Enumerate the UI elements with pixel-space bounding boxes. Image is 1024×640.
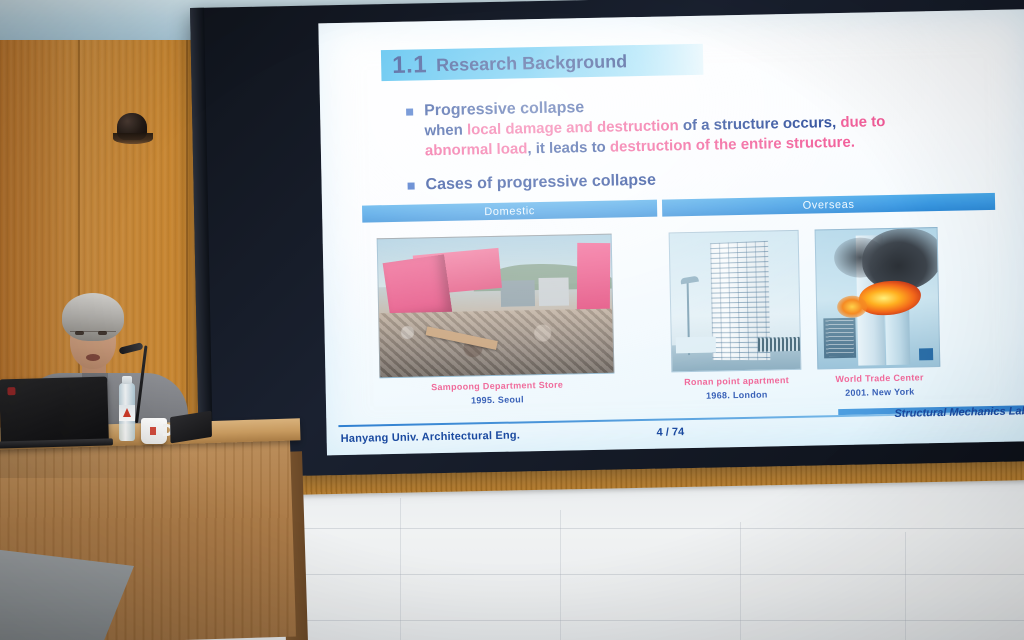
projected-slide: 1.1 Research Background Progressive coll… xyxy=(318,9,1024,455)
bullet-progressive-collapse: Progressive collapse when local damage a… xyxy=(406,90,1007,161)
caption-world-trade-center: World Trade Center 2001. New York xyxy=(813,371,946,402)
text-segment-highlight: local damage and destruction xyxy=(467,118,679,139)
text-segment: when xyxy=(424,122,467,140)
footer-page-number: 4 / 74 xyxy=(656,426,684,439)
text-segment: , it leads to xyxy=(527,138,610,157)
category-bars: Domestic Overseas xyxy=(362,193,995,223)
case-photos: Sampoong Department Store 1995. Seoul Ro… xyxy=(363,218,1000,421)
footer-lab-name: Structural Mechanics Lab xyxy=(894,405,1024,420)
photo-world-trade-center xyxy=(815,227,941,369)
water-bottle xyxy=(119,383,135,441)
text-segment: of a structure occurs, xyxy=(679,114,841,134)
square-bullet-icon xyxy=(408,183,415,190)
coffee-mug xyxy=(141,418,167,444)
category-bar-overseas: Overseas xyxy=(662,193,995,217)
photo-sampoong-department-store xyxy=(377,234,615,379)
lecture-hall-scene: 1.1 Research Background Progressive coll… xyxy=(0,0,1024,640)
bullet-heading: Cases of progressive collapse xyxy=(425,171,656,196)
projection-screen: 1.1 Research Background Progressive coll… xyxy=(190,0,1024,478)
wall-light-fixture-icon xyxy=(113,113,153,147)
caption-ronan-point: Ronan point apartment 1968. London xyxy=(657,374,816,405)
laptop xyxy=(0,377,109,444)
slide-title-number: 1.1 xyxy=(392,53,427,78)
photo-ronan-point-apartment xyxy=(669,230,802,373)
text-segment-highlight: due to xyxy=(840,114,885,132)
square-bullet-icon xyxy=(406,109,413,116)
bullet-cases-of-progressive-collapse: Cases of progressive collapse xyxy=(407,171,656,196)
text-segment-highlight: destruction of the entire structure. xyxy=(610,133,855,155)
caption-year-place: 2001. New York xyxy=(814,385,946,402)
category-bar-domestic: Domestic xyxy=(362,200,657,223)
footer-institution: Hanyang Univ. Architectural Eng. xyxy=(341,429,521,445)
caption-sampoong: Sampoong Department Store 1995. Seoul xyxy=(380,378,616,411)
slide-title-text: Research Background xyxy=(436,52,627,74)
caption-year-place: 1968. London xyxy=(658,387,816,404)
slide-title-bar: 1.1 Research Background xyxy=(381,44,704,81)
text-segment-highlight: abnormal load xyxy=(425,140,528,159)
